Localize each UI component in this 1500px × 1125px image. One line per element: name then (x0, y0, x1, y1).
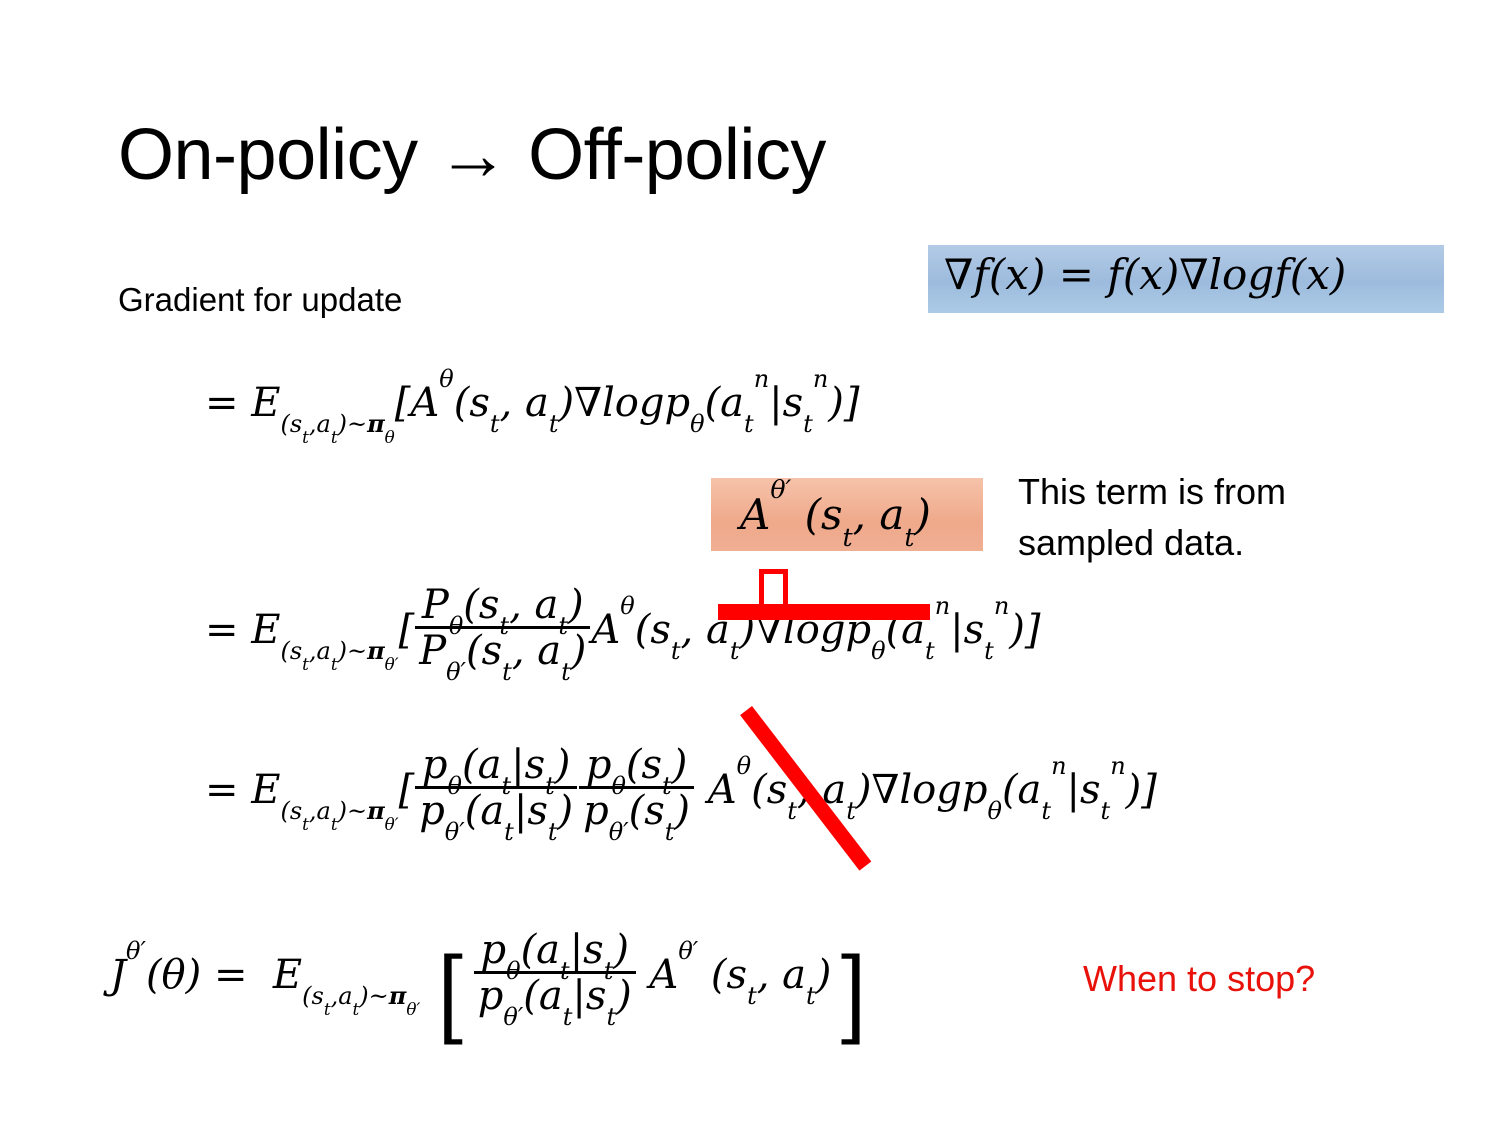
equation-2: = E(st,at)~πθ′[Pθ(st, at)Pθ′(st, at)Aθ(s… (205, 585, 1041, 671)
equation-1: = E(st,at)~πθ[Aθ(st, at)∇logpθ(atn|stn)] (205, 383, 860, 425)
equation-3: = E(st,at)~πθ′[pθ(at|st)pθ′(at|st)pθ(st)… (205, 745, 1157, 831)
advantage-sampled-formula: Aθ′ (st, at) (740, 494, 931, 536)
sampled-data-note: This term is from sampled data. (1018, 466, 1408, 568)
when-to-stop-note: When to stop? (1083, 958, 1315, 1000)
horizontal-strike-mark (718, 604, 930, 620)
page-title: On-policy → Off-policy (118, 118, 826, 194)
boxed-theta-mark (759, 569, 788, 609)
equation-4: Jθ′(θ) = E(st,at)~πθ′ [pθ(at|st)pθ′(at|s… (110, 930, 871, 1048)
identity-formula: ∇f(x) = f(x)∇logf(x) (944, 254, 1346, 296)
gradient-for-update-label: Gradient for update (118, 281, 402, 319)
